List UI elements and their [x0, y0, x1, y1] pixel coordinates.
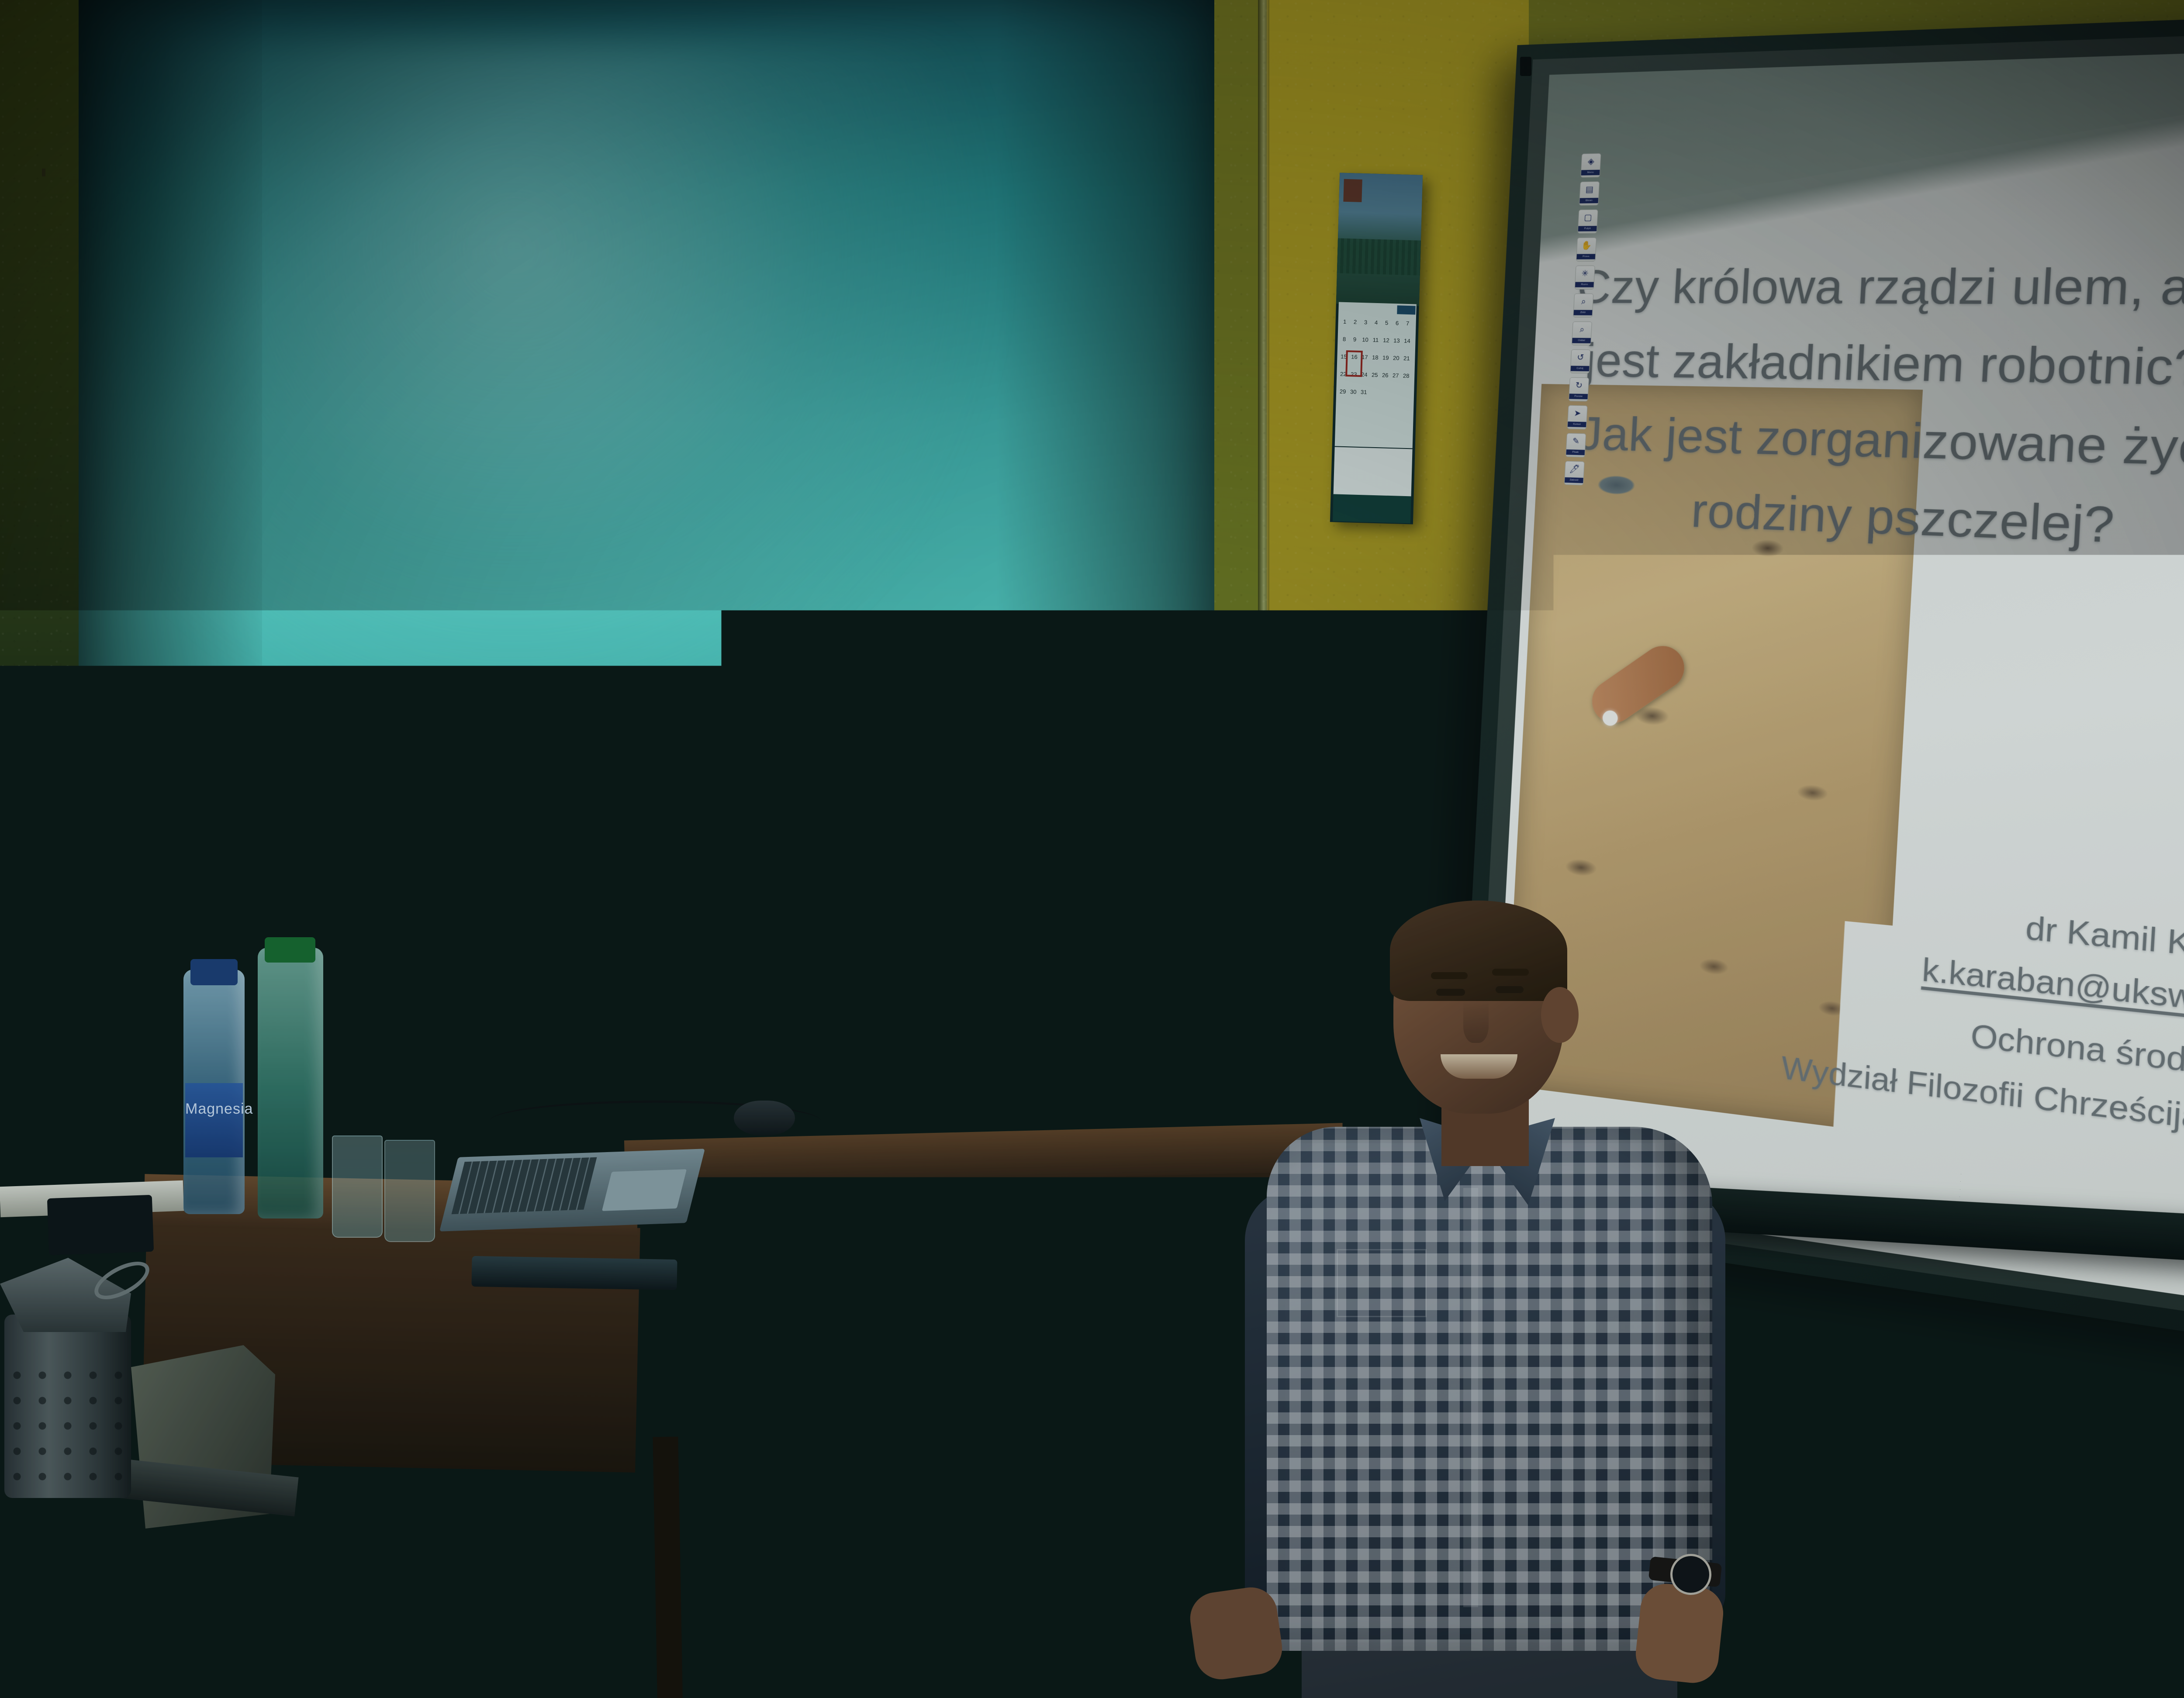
pan-hand-icon: ✋	[1581, 238, 1592, 254]
calendar-day: 1	[1341, 317, 1349, 327]
zoom-in-icon: ⌕	[1581, 294, 1586, 310]
presenter-ear	[1541, 987, 1579, 1043]
presenter-eye-right	[1496, 986, 1524, 993]
toolbar-left-button-label: Menu	[1581, 170, 1600, 176]
calendar-footer	[1333, 494, 1411, 523]
drinking-glass[interactable]	[384, 1140, 435, 1242]
resize-icon: ✳	[1581, 266, 1589, 282]
toolbar-left-button-cursor-icon[interactable]: ➤Kursor	[1567, 405, 1588, 430]
calendar-day: 2	[1351, 317, 1359, 327]
menu-icon: ◈	[1587, 154, 1595, 170]
pen-icon: ✎	[1572, 434, 1580, 450]
presenter-eyebrow-left	[1431, 972, 1468, 979]
calendar-day: 4	[1372, 318, 1380, 328]
classroom-scene: 1234567891011121314151617181920212223242…	[0, 0, 2184, 1698]
calendar-day: 7	[1403, 319, 1412, 328]
bottle-cap-blue	[190, 959, 238, 985]
presenter-hand-left	[1187, 1584, 1286, 1683]
presenter	[620, 445, 1136, 1698]
laptop-keyboard[interactable]	[451, 1157, 597, 1214]
calendar-day: 31	[1360, 387, 1368, 397]
calendar-day: 18	[1371, 353, 1379, 362]
calendar-day: 19	[1382, 353, 1390, 362]
bottle-label-text: Magnesia	[185, 1101, 243, 1118]
calendar-day: 26	[1381, 370, 1389, 380]
calendar-day: 27	[1392, 371, 1400, 380]
calendar-day: 30	[1349, 387, 1358, 397]
shirt-pocket	[1337, 1249, 1427, 1317]
toolbar-left-button-zoom-out-icon[interactable]: ⌕Oddal	[1572, 321, 1592, 345]
calendar-day: 29	[1339, 387, 1347, 397]
desktop-icon: ▢	[1583, 210, 1592, 226]
toolbar-left-button-label: Ekran	[1579, 198, 1598, 204]
whiteboard-surface[interactable]: Czy królowa rządzi ulem, a może jest zak…	[1490, 48, 2184, 1308]
slide-heading-line-2: jest zakładnikiem robotnic?	[1559, 333, 2184, 397]
toolbar-left-button-label: Rozm	[1575, 282, 1594, 287]
presenter-hair	[1390, 901, 1567, 1001]
presenter-nose	[1463, 1001, 1489, 1043]
screen-icon: ▤	[1585, 182, 1594, 198]
toolbar-left-button-menu-icon[interactable]: ◈Menu	[1580, 153, 1601, 178]
calendar-day: 6	[1393, 318, 1401, 328]
toolbar-left-button-highlighter-icon[interactable]: 🖊Zakreśl	[1564, 461, 1585, 485]
slide-heading-line-1: Czy królowa rządzi ulem, a może	[1576, 257, 2184, 317]
beehive-shadow	[1542, 1458, 2184, 1698]
storage-box[interactable]	[0, 1578, 246, 1698]
toolbar-left-button-resize-icon[interactable]: ✳Rozm	[1575, 266, 1595, 290]
mobile-phone[interactable]	[47, 1195, 154, 1255]
redo-icon: ↻	[1575, 378, 1583, 394]
calendar-day: 25	[1371, 370, 1379, 380]
toolbar-left-button-label: Pisak	[1566, 449, 1585, 455]
presenter-eyebrow-right	[1492, 969, 1529, 976]
calendar-day: 14	[1403, 336, 1411, 346]
toolbar-left-button-label: Zakreśl	[1565, 477, 1583, 483]
toolbar-left-button-screen-icon[interactable]: ▤Ekran	[1579, 181, 1600, 206]
drinking-glass[interactable]	[332, 1135, 383, 1238]
calendar-day: 11	[1372, 335, 1380, 345]
toolbar-left-button-desktop-icon[interactable]: ▢Pulpit	[1577, 209, 1598, 233]
toolbar-left-button-label: Zbliż	[1574, 310, 1593, 315]
calendar-day: 28	[1402, 371, 1410, 381]
toolbar-left-button-label: Kursor	[1568, 421, 1586, 427]
cursor-icon: ➤	[1574, 406, 1582, 422]
bee-smoker-vent-holes	[4, 1363, 131, 1485]
bottle-cap-green	[265, 937, 315, 963]
presenter-eye-left	[1436, 989, 1465, 996]
calendar-day: 8	[1340, 335, 1348, 344]
water-bottle-green-cap[interactable]	[258, 948, 323, 1218]
toolbar-left-button-label: Oddal	[1572, 338, 1591, 344]
calendar-day: 13	[1393, 336, 1401, 345]
calendar-day: 12	[1382, 335, 1390, 345]
calendar-day: 21	[1403, 354, 1411, 363]
projection-top-shadow	[1541, 48, 2184, 221]
toolbar-left-button-label: Ponów	[1569, 393, 1588, 399]
whiteboard-mount-screw-top	[1520, 57, 1531, 76]
calendar-day: 9	[1351, 335, 1359, 344]
toolbar-left-button-undo-icon[interactable]: ↺Cofnij	[1570, 349, 1590, 373]
calendar-logo	[1343, 179, 1362, 202]
calendar-day: 10	[1361, 335, 1369, 345]
highlighter-icon: 🖊	[1569, 462, 1580, 478]
toolbar-left-button-label: Pulpit	[1578, 226, 1597, 231]
undo-icon: ↺	[1576, 350, 1584, 366]
spray-bottle[interactable]	[1281, 1031, 1329, 1122]
calendar-day: 3	[1362, 318, 1370, 327]
toolbar-left-button-pen-icon[interactable]: ✎Pisak	[1565, 433, 1586, 458]
calendar-nail	[42, 169, 45, 176]
zoom-out-icon: ⌕	[1579, 322, 1585, 338]
toolbar-left-button-label: Cofnij	[1571, 366, 1590, 371]
blind-shadow-left	[79, 0, 262, 1061]
toolbar-left-button-pan-hand-icon[interactable]: ✋Przes	[1576, 238, 1597, 262]
calendar-today-marker	[1345, 350, 1363, 377]
calendar-mini-months	[1334, 447, 1413, 497]
bottle-label	[185, 1083, 243, 1157]
toolbar-left-button-zoom-in-icon[interactable]: ⌕Zbliż	[1573, 293, 1593, 318]
calendar-year-badge	[1397, 305, 1416, 314]
calendar-day: 20	[1392, 353, 1400, 363]
toolbar-left-button-label: Przes	[1576, 254, 1595, 259]
wall-calendar: 1234567891011121314151617181920212223242…	[1330, 173, 1423, 525]
calendar-photo-treeline	[1337, 238, 1421, 275]
calendar-day: 5	[1382, 318, 1391, 328]
toolbar-left-button-redo-icon[interactable]: ↻Ponów	[1569, 377, 1589, 402]
shirt-placket	[1463, 1188, 1478, 1607]
